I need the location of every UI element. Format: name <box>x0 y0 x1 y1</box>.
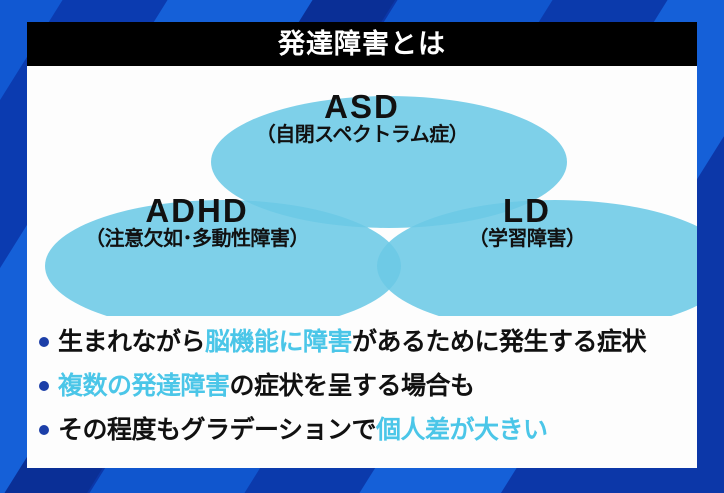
venn-abbr-ld: LD <box>377 194 677 229</box>
bullet-item: 生まれながら脳機能に障害があるために発生する症状 <box>39 320 689 364</box>
bullet-dot-icon <box>39 337 49 347</box>
content-card: 発達障害とは ASD （自閉スペクトラム症） ADHD （注意欠如･多動性障害）… <box>27 22 697 468</box>
venn-full-asd: （自閉スペクトラム症） <box>212 125 512 146</box>
venn-abbr-adhd: ADHD <box>47 194 347 229</box>
bullet-item: その程度もグラデーションで個人差が大きい <box>39 408 689 452</box>
bullet-highlight-text: 脳機能に障害 <box>205 328 352 356</box>
venn-abbr-asd: ASD <box>212 90 512 125</box>
bullet-highlight-text: 個人差が大きい <box>376 416 548 444</box>
page-title: 発達障害とは <box>278 31 446 58</box>
venn-full-adhd: （注意欠如･多動性障害） <box>47 229 347 250</box>
bullet-plain-text: があるために発生する症状 <box>352 328 646 356</box>
bullet-dot-icon <box>39 425 49 435</box>
venn-label-asd: ASD （自閉スペクトラム症） <box>212 90 512 146</box>
bullet-plain-text: その程度もグラデーションで <box>58 416 376 444</box>
bullet-plain-text: 生まれながら <box>58 328 205 356</box>
slide-root: 発達障害とは ASD （自閉スペクトラム症） ADHD （注意欠如･多動性障害）… <box>0 0 724 493</box>
bullet-text: その程度もグラデーションで個人差が大きい <box>58 418 548 443</box>
bullet-list: 生まれながら脳機能に障害があるために発生する症状複数の発達障害の症状を呈する場合… <box>39 320 689 452</box>
bullet-dot-icon <box>39 381 49 391</box>
title-bar: 発達障害とは <box>27 22 697 66</box>
venn-label-adhd: ADHD （注意欠如･多動性障害） <box>47 194 347 250</box>
venn-full-ld: （学習障害） <box>377 229 677 250</box>
venn-label-ld: LD （学習障害） <box>377 194 677 250</box>
bullet-highlight-text: 複数の発達障害 <box>58 372 230 400</box>
bullet-text: 生まれながら脳機能に障害があるために発生する症状 <box>58 330 646 355</box>
bullet-item: 複数の発達障害の症状を呈する場合も <box>39 364 689 408</box>
venn-diagram: ASD （自閉スペクトラム症） ADHD （注意欠如･多動性障害） LD （学習… <box>27 66 697 316</box>
bullet-plain-text: の症状を呈する場合も <box>230 372 475 400</box>
bullet-text: 複数の発達障害の症状を呈する場合も <box>58 374 475 399</box>
